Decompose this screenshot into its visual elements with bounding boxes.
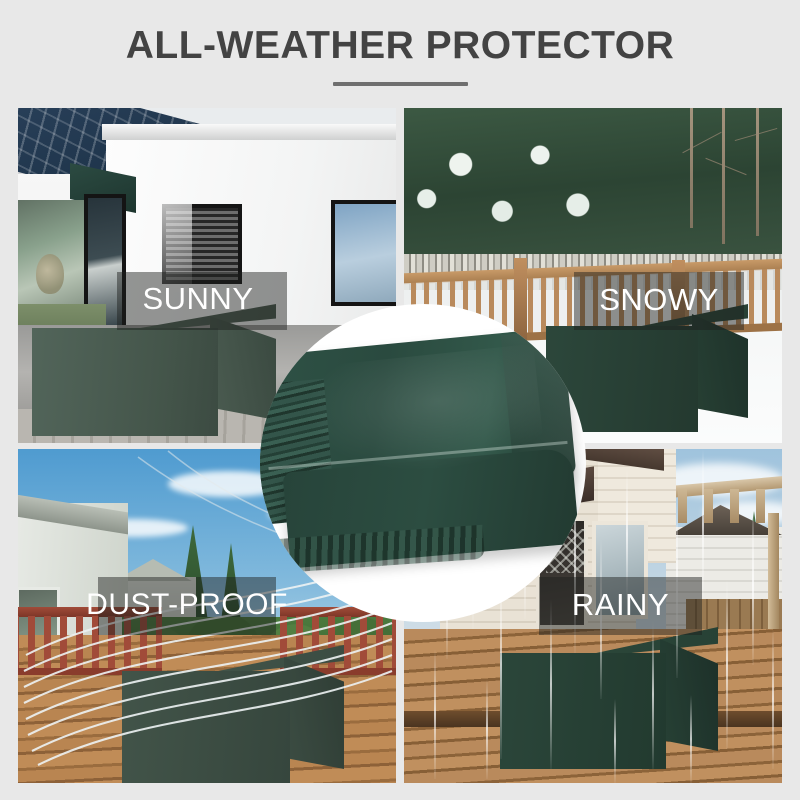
page-title: ALL-WEATHER PROTECTOR xyxy=(0,26,800,67)
panel-label: SUNNY xyxy=(142,281,253,317)
window-right xyxy=(331,200,396,306)
pergola-slat xyxy=(704,489,713,523)
cover-front xyxy=(122,671,290,783)
cover-front xyxy=(32,328,218,436)
pergola-slat xyxy=(756,489,765,523)
bare-tree-trunk xyxy=(690,108,693,228)
folded-fabric-cover xyxy=(260,304,586,622)
header: ALL-WEATHER PROTECTOR xyxy=(0,0,800,86)
label-band-dust-proof: DUST-PROOF xyxy=(98,577,276,635)
cover-side xyxy=(660,639,718,751)
pergola-slat xyxy=(678,489,687,523)
bare-tree-trunk xyxy=(722,108,725,244)
panel-label: RAINY xyxy=(572,587,669,623)
product-closeup-circle xyxy=(260,304,586,622)
roof-eave xyxy=(102,124,396,140)
pergola-slat xyxy=(730,489,739,523)
panel-label: DUST-PROOF xyxy=(86,588,288,622)
fabric-sheen xyxy=(294,344,545,486)
label-band-snowy: SNOWY xyxy=(574,272,744,330)
cover-side xyxy=(284,657,344,769)
panel-label: SNOWY xyxy=(599,282,719,318)
furniture-cover xyxy=(500,627,718,769)
snow-covered-evergreens xyxy=(404,108,782,258)
furniture-cover xyxy=(122,645,344,783)
cover-front xyxy=(500,653,666,769)
title-divider xyxy=(333,82,468,86)
bare-tree-trunk xyxy=(756,108,759,236)
